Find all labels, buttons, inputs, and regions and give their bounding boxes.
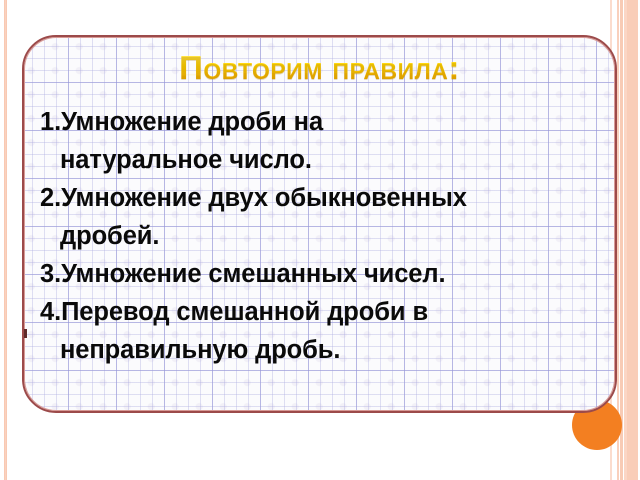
list-item: 2.Умножение двух обыкновенных дробей.	[40, 179, 605, 255]
list-item: 1.Умножение дроби на натуральное число.	[40, 103, 605, 179]
graph-paper-content-box: Повторим правила: Повторим правила: 1.Ум…	[22, 35, 617, 413]
list-item: 3.Умножение смешанных чисел.	[40, 255, 605, 293]
page-title-reflection: Повторим правила:	[24, 64, 615, 78]
title-block: Повторим правила: Повторим правила:	[24, 51, 615, 111]
left-stripe-decoration	[4, 0, 7, 480]
border-artifact-mark	[24, 329, 27, 338]
slide-canvas: Повторим правила: Повторим правила: 1.Ум…	[0, 0, 640, 480]
rules-list: 1.Умножение дроби на натуральное число. …	[40, 103, 605, 369]
right-stripe-band-decoration	[616, 0, 640, 480]
list-item: 4.Перевод смешанной дроби в неправильную…	[40, 293, 605, 369]
